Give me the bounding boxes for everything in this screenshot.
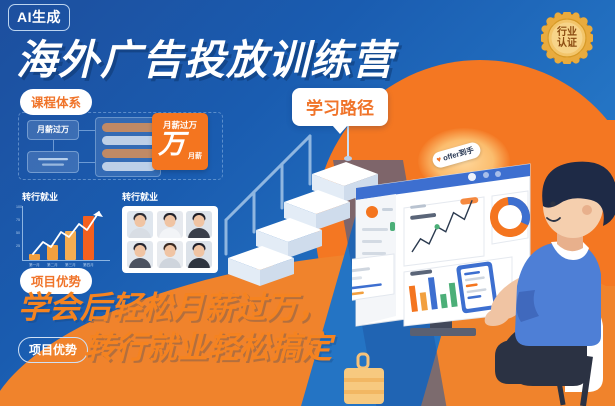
- headline-text: 学会后轻松月薪过万， 转行就业轻松搞定: [18, 288, 332, 367]
- avatar: [186, 211, 212, 238]
- avatars-grid: [122, 206, 218, 273]
- chart-ytick: 25: [16, 244, 20, 248]
- page-title: 海外广告投放训练营: [16, 26, 394, 86]
- suitcase-handle-icon: [358, 354, 368, 368]
- certification-seal: 行业 认证: [541, 12, 593, 64]
- chart-ytick: 100: [16, 205, 22, 209]
- avatar: [157, 211, 183, 238]
- chart-ytick: 50: [16, 231, 20, 235]
- seal-line-1: 行业: [557, 27, 577, 39]
- learning-path-bubble: 学习路径: [292, 88, 388, 126]
- chart-trend-arrow-icon: [23, 206, 111, 261]
- bubble-anchor-dot-decor: [344, 156, 352, 161]
- suitcase-illustration: [340, 348, 400, 404]
- salary-highlight-card: 月薪过万 万 月薪: [152, 113, 208, 170]
- tag-curriculum: 课程体系: [20, 89, 92, 115]
- diagram-panel-row: [102, 149, 156, 158]
- salary-card-big-number: 万: [158, 131, 185, 158]
- chart-plot-area: 100 75 50 25 第一月 第二月 第三月 第四月: [22, 206, 110, 261]
- diagram-connector-vertical: [53, 140, 54, 151]
- avatar: [157, 241, 183, 268]
- diagram-connector-horizontal: [79, 130, 95, 131]
- suitcase-body: [344, 368, 384, 404]
- avatar: [186, 241, 212, 268]
- salary-card-small-label: 月薪: [188, 151, 202, 161]
- graduates-avatars-card: 转行就业: [122, 190, 218, 273]
- chart-title: 转行就业: [22, 190, 112, 203]
- tag-curriculum-label: 课程体系: [20, 89, 92, 115]
- seal-line-2: 认证: [557, 38, 577, 50]
- diagram-panel-row: [102, 162, 156, 171]
- diagram-main-box: 月薪过万: [27, 120, 79, 140]
- person-illustration: [469, 150, 615, 406]
- chart-ytick: 75: [16, 218, 20, 222]
- diagram-sub-lines-icon: [33, 155, 73, 169]
- employment-bar-chart: 转行就业 100 75 50 25 第一月 第二月 第三月 第四月: [22, 190, 112, 262]
- avatar: [127, 241, 153, 268]
- headline-line-2: 转行就业轻松搞定: [84, 328, 332, 368]
- heart-icon: ♥: [435, 155, 442, 165]
- seal-text: 行业 认证: [541, 12, 593, 64]
- poster-canvas: AI生成 海外广告投放训练营: [0, 0, 615, 406]
- diagram-sub-box: [27, 151, 79, 173]
- diagram-panel-row: [102, 136, 156, 145]
- avatars-title: 转行就业: [122, 190, 218, 203]
- avatar: [127, 211, 153, 238]
- person-eye: [550, 201, 555, 206]
- diagram-connector-horizontal-2: [79, 162, 95, 163]
- diagram-panel-row: [102, 123, 156, 132]
- headline-line-1: 学会后轻松月薪过万，: [18, 290, 328, 325]
- seated-person-icon: [469, 150, 615, 406]
